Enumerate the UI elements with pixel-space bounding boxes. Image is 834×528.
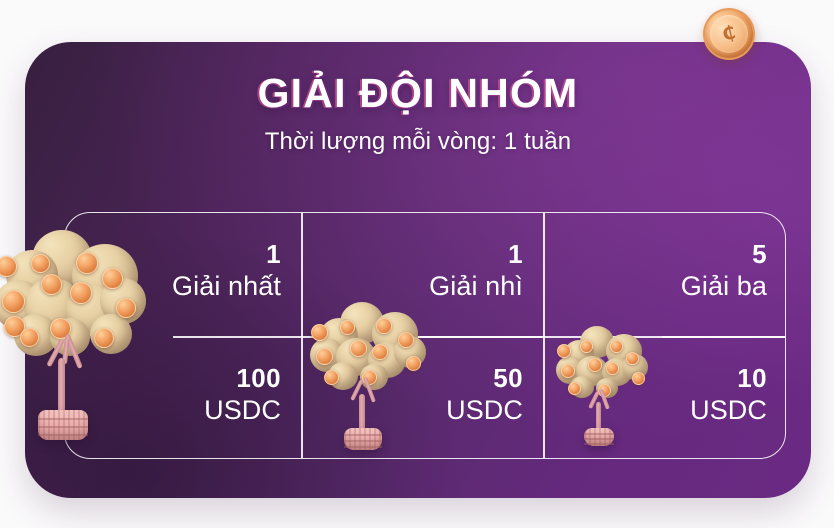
prize-card: GIẢI ĐỘI NHÓM Thời lượng mỗi vòng: 1 tuầ…: [25, 42, 811, 498]
prize-rank-label-second: Giải nhì: [301, 270, 523, 303]
table-horizontal-divider-col2: [420, 336, 542, 338]
prize-rank-cell-second: 1 Giải nhì: [301, 241, 543, 331]
prize-currency-first: USDC: [65, 394, 281, 427]
prize-count-first: 1: [65, 241, 281, 267]
prize-amount-third: 10: [543, 365, 767, 391]
prize-count-third: 5: [543, 241, 767, 267]
table-horizontal-divider-col3: [662, 336, 785, 338]
prize-table: 1 Giải nhất 100 USDC 1 Giải nhì 50 USDC …: [64, 212, 786, 459]
prize-amount-cell-third: 10 USDC: [543, 365, 787, 455]
card-header: GIẢI ĐỘI NHÓM Thời lượng mỗi vòng: 1 tuầ…: [25, 72, 811, 155]
page-title: GIẢI ĐỘI NHÓM: [25, 72, 811, 115]
prize-amount-second: 50: [301, 365, 523, 391]
prize-amount-first: 100: [65, 365, 281, 391]
prize-currency-second: USDC: [301, 394, 523, 427]
prize-rank-label-third: Giải ba: [543, 270, 767, 303]
prize-currency-third: USDC: [543, 394, 767, 427]
prize-count-second: 1: [301, 241, 523, 267]
gold-coin-glyph: ₵: [703, 17, 755, 50]
prize-rank-cell-third: 5 Giải ba: [543, 241, 787, 331]
prize-rank-label-first: Giải nhất: [65, 270, 281, 303]
prize-amount-cell-second: 50 USDC: [301, 365, 543, 455]
page-subtitle: Thời lượng mỗi vòng: 1 tuần: [25, 129, 811, 155]
poster-stage: GIẢI ĐỘI NHÓM Thời lượng mỗi vòng: 1 tuầ…: [0, 0, 834, 528]
prize-amount-cell-first: 100 USDC: [65, 365, 301, 455]
prize-rank-cell-first: 1 Giải nhất: [65, 241, 301, 331]
